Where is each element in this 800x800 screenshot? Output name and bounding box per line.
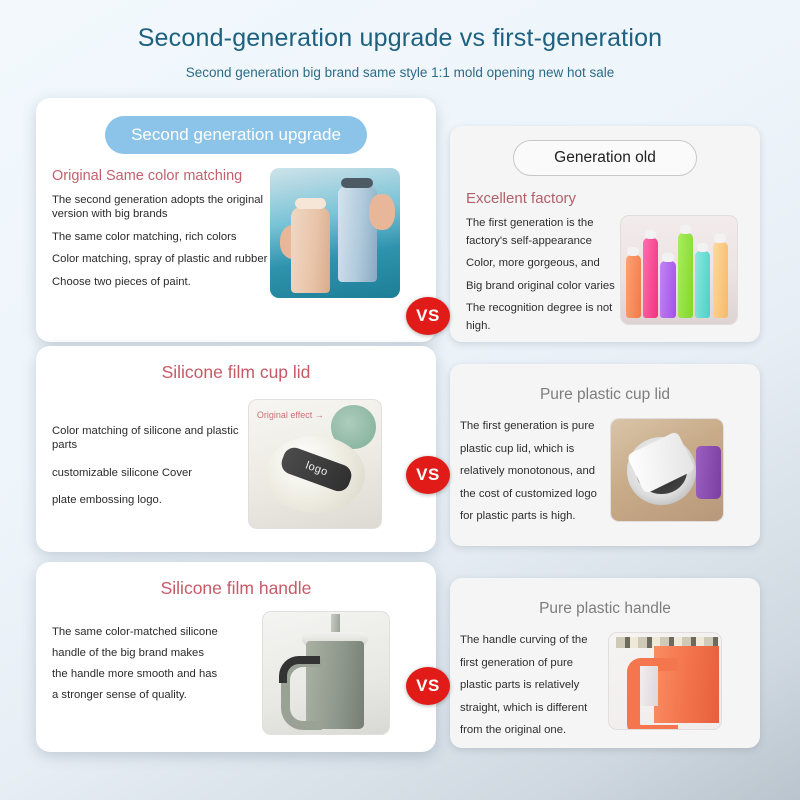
new-photo-slot-1 — [270, 168, 400, 299]
silicone-lid-logo-photo: Original effect → logo — [248, 399, 382, 529]
vs-badge-3: VS — [406, 667, 450, 705]
new-body-2: Color matching of silicone and plastic p… — [52, 425, 248, 508]
old-body-3: The handle curving of the first generati… — [460, 632, 608, 745]
page-subtitle: Second generation big brand same style 1… — [0, 65, 800, 80]
orange-plastic-handle-photo — [608, 632, 722, 730]
old-body-1: The first generation is the factory's se… — [466, 215, 626, 340]
old-generation-card-2: Pure plastic cup lid The first generatio… — [450, 364, 760, 546]
original-effect-annotation: Original effect → — [257, 410, 324, 420]
new-generation-card-1: Second generation upgrade Original Same … — [36, 98, 436, 342]
old-heading-1: Excellent factory — [466, 190, 760, 207]
comparison-row-3: Pure plastic handle The handle curving o… — [0, 562, 800, 762]
new-body-3: The same color-matched silicone handle o… — [52, 623, 262, 704]
new-pill-wrap-1: Second generation upgrade — [36, 98, 436, 154]
comparison-rows: Generation old Excellent factory The fir… — [0, 94, 800, 762]
silicone-handle-tumbler-photo — [262, 611, 390, 735]
colorful-tumbler-lineup-photo — [620, 215, 738, 325]
old-generation-pill: Generation old — [513, 140, 697, 176]
comparison-row-1: Generation old Excellent factory The fir… — [0, 94, 800, 342]
new-generation-card-3: Silicone film handle The same color-matc… — [36, 562, 436, 752]
new-text-block-3: The same color-matched silicone handle o… — [52, 611, 262, 735]
old-generation-card-3: Pure plastic handle The handle curving o… — [450, 578, 760, 748]
new-text-block-1: Original Same color matching The second … — [52, 168, 270, 299]
vs-badge-2: VS — [406, 456, 450, 494]
page-header: Second-generation upgrade vs first-gener… — [0, 0, 800, 80]
old-pill-wrap-1: Generation old — [450, 126, 760, 176]
new-body-1: The second generation adopts the origina… — [52, 194, 270, 290]
vs-badge-1: VS — [406, 297, 450, 335]
old-photo-slot-3 — [608, 632, 722, 745]
new-heading-3: Silicone film handle — [36, 562, 436, 599]
new-heading-2: Silicone film cup lid — [36, 346, 436, 383]
old-photo-slot-1 — [626, 215, 738, 340]
comparison-row-2: Pure plastic cup lid The first generatio… — [0, 346, 800, 558]
plastic-cup-lid-photo — [610, 418, 724, 522]
logo-text: logo — [304, 460, 330, 479]
new-photo-slot-3 — [262, 611, 390, 735]
new-heading-1: Original Same color matching — [52, 168, 270, 184]
two-tumblers-poolside-photo — [270, 168, 400, 298]
new-text-block-2: Color matching of silicone and plastic p… — [52, 399, 248, 529]
old-photo-slot-2 — [610, 418, 724, 531]
old-body-2: The first generation is pure plastic cup… — [460, 418, 610, 531]
new-photo-slot-2: Original effect → logo — [248, 399, 382, 529]
old-heading-2: Pure plastic cup lid — [450, 364, 760, 404]
old-generation-card-1: Generation old Excellent factory The fir… — [450, 126, 760, 342]
second-generation-pill: Second generation upgrade — [105, 116, 367, 154]
page-title: Second-generation upgrade vs first-gener… — [0, 24, 800, 53]
old-heading-3: Pure plastic handle — [450, 578, 760, 618]
new-generation-card-2: Silicone film cup lid Color matching of … — [36, 346, 436, 552]
